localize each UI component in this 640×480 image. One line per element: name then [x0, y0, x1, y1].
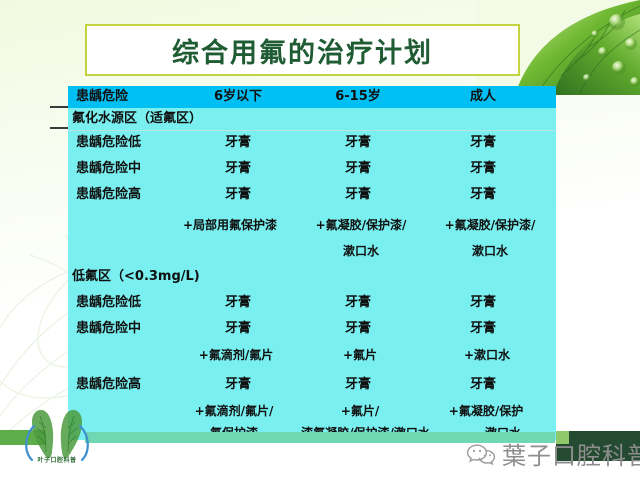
row-col2: +氟凝胶/保护漆/	[296, 214, 426, 236]
section-divider	[68, 130, 556, 131]
row-col2: 牙膏	[298, 184, 418, 206]
row-label: 患龋危险高	[76, 374, 141, 396]
table-row: 患龋危险高 牙膏 牙膏 牙膏	[68, 374, 556, 396]
row-col1: +氟滴剂/氟片/	[164, 400, 304, 422]
section-heading-0: 氟化水源区（适氟区）	[72, 108, 202, 130]
row-col3: 牙膏	[418, 132, 548, 154]
table-row: +氟滴剂/氟片 +氟片 +漱口水	[68, 344, 556, 366]
row-col2: +氟片	[300, 344, 420, 366]
section-heading-row: 氟化水源区（适氟区）	[68, 108, 556, 130]
table-header-row: 患龋危险 6岁以下 6-15岁 成人	[68, 86, 556, 108]
row-label: 患龋危险中	[76, 318, 141, 340]
row-col2: +氟片/	[300, 400, 420, 422]
table-row: 患龋危险高 牙膏 牙膏 牙膏	[68, 184, 556, 206]
table-header-col1: 6岁以下	[178, 86, 298, 108]
row-col1: 牙膏	[178, 158, 298, 180]
row-col2: 牙膏	[298, 132, 418, 154]
row-col3: 牙膏	[418, 318, 548, 340]
row-col1	[160, 240, 300, 262]
row-col3: +氟凝胶/保护	[420, 400, 552, 422]
row-col2: 牙膏	[298, 318, 418, 340]
row-col1: 牙膏	[178, 318, 298, 340]
table-row: 漱口水 漱口水	[68, 240, 556, 262]
left-rule-header	[50, 106, 70, 108]
section-heading-1: 低氟区（<0.3mg/L)	[72, 266, 200, 288]
row-col3: 牙膏	[418, 374, 548, 396]
table-row: +氟滴剂/氟片/ +氟片/ +氟凝胶/保护	[68, 400, 556, 422]
row-col1: 牙膏	[178, 184, 298, 206]
table-header-col3: 成人	[418, 86, 548, 108]
row-label: 患龋危险高	[76, 184, 141, 206]
slide-title-box: 综合用氟的治疗计划	[85, 24, 520, 76]
wechat-watermark: 葉子口腔科普	[466, 436, 640, 471]
row-col3: 漱口水	[424, 240, 556, 262]
fluoride-treatment-table: 患龋危险 6岁以下 6-15岁 成人 氟化水源区（适氟区） 患龋危险低 牙膏 牙…	[68, 86, 556, 440]
page-title: 综合用氟的治疗计划	[172, 31, 433, 70]
table-row: 患龋危险中 牙膏 牙膏 牙膏	[68, 158, 556, 180]
row-label: 患龋危险低	[76, 132, 141, 154]
row-label: 患龋危险低	[76, 292, 141, 314]
row-col2: 牙膏	[298, 374, 418, 396]
row-col1: +局部用氟保护漆	[160, 214, 300, 236]
row-col3: 牙膏	[418, 292, 548, 314]
section-heading-row: 低氟区（<0.3mg/L)	[68, 266, 556, 288]
row-col1: +氟滴剂/氟片	[168, 344, 304, 366]
row-col2: 漱口水	[296, 240, 426, 262]
table-row: 患龋危险低 牙膏 牙膏 牙膏	[68, 132, 556, 154]
row-col1: 牙膏	[178, 374, 298, 396]
row-col3: 牙膏	[418, 158, 548, 180]
row-col1: 牙膏	[178, 292, 298, 314]
slide-canvas: 综合用氟的治疗计划 患龋危险 6岁以下 6-15岁 成人 氟化水源区（适氟区） …	[0, 0, 640, 480]
row-col3: +氟凝胶/保护漆/	[424, 214, 556, 236]
left-rule-section	[50, 127, 70, 129]
table-header-risk: 患龋危险	[76, 86, 128, 108]
wechat-icon	[466, 442, 496, 466]
brand-logo-caption: 叶子口腔科普	[18, 455, 96, 464]
row-col1: 牙膏	[178, 132, 298, 154]
row-col3: 牙膏	[418, 184, 548, 206]
table-row: 患龋危险中 牙膏 牙膏 牙膏	[68, 318, 556, 340]
table-header-col2: 6-15岁	[298, 86, 418, 108]
table-row: 患龋危险低 牙膏 牙膏 牙膏	[68, 292, 556, 314]
row-col2: 牙膏	[298, 292, 418, 314]
row-col3: +漱口水	[424, 344, 550, 366]
row-label: 患龋危险中	[76, 158, 141, 180]
wechat-watermark-text: 葉子口腔科普	[502, 436, 640, 471]
table-row: +局部用氟保护漆 +氟凝胶/保护漆/ +氟凝胶/保护漆/	[68, 214, 556, 236]
row-col2: 牙膏	[298, 158, 418, 180]
